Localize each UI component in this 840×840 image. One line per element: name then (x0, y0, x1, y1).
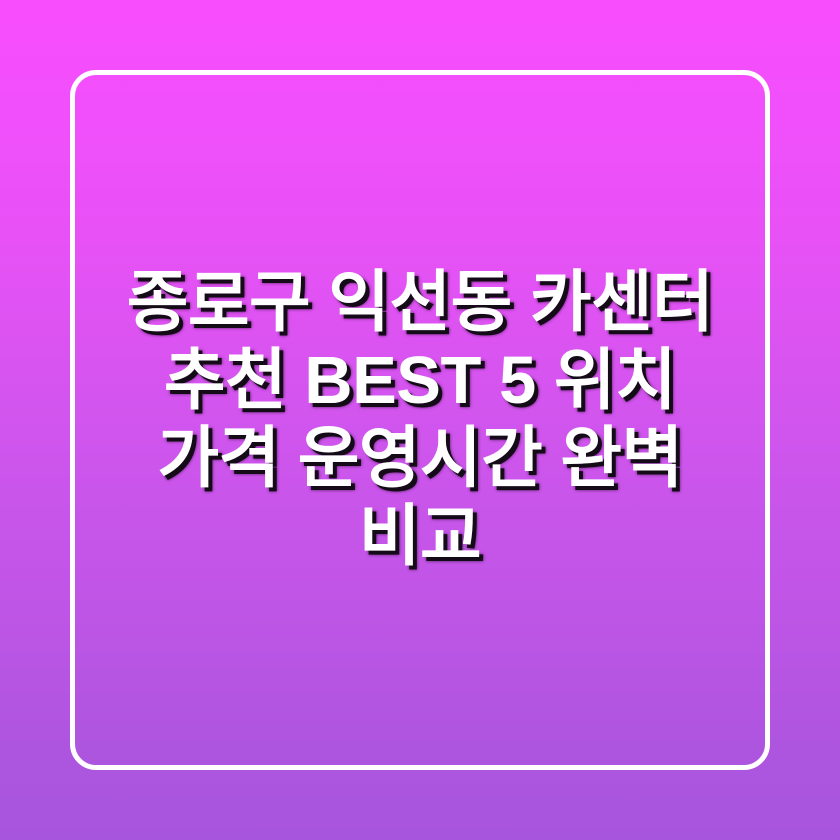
headline-line-1: 종로구 익선동 카센터 (96, 264, 744, 342)
headline-line-2: 추천 BEST 5 위치 (96, 342, 744, 420)
headline-line-4: 비교 (96, 498, 744, 576)
headline-block: 종로구 익선동 카센터 추천 BEST 5 위치 가격 운영시간 완벽 비교 (70, 70, 770, 770)
headline-line-3: 가격 운영시간 완벽 (96, 420, 744, 498)
thumbnail-canvas: 종로구 익선동 카센터 추천 BEST 5 위치 가격 운영시간 완벽 비교 (0, 0, 840, 840)
